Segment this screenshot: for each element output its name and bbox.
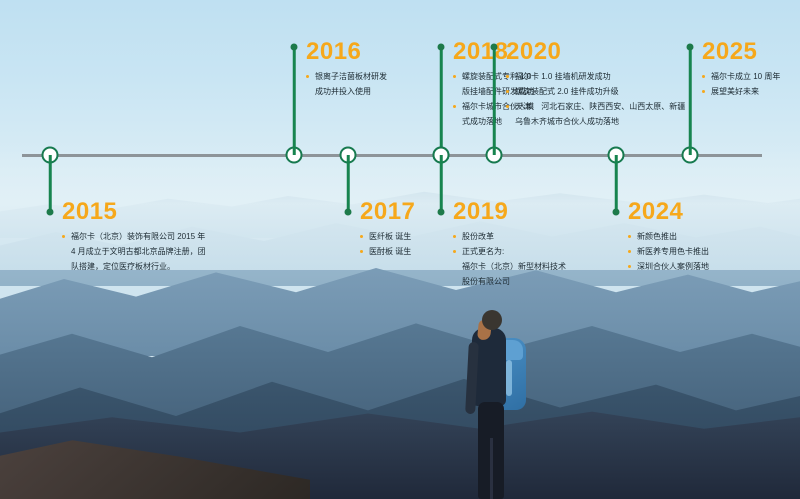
timeline-year-2015: 2015 <box>62 200 206 224</box>
timeline-bullets-2017: 医纤板 诞生医酎板 诞生 <box>360 231 415 258</box>
timeline-stem-2016 <box>293 47 296 155</box>
backpack-strap <box>506 360 512 396</box>
timeline-stem-cap-2015 <box>47 209 54 216</box>
timeline-stem-cap-2018 <box>438 44 445 51</box>
timeline-year-2017: 2017 <box>360 200 415 224</box>
timeline-entry-2019[interactable]: 2019股份改革正式更名为:福尔卡（北京）新型材料技术股份有限公司 <box>453 200 566 291</box>
timeline-bullet: 福尔卡（北京）装饰有限公司 2015 年 <box>62 231 206 243</box>
timeline-bullet: 深圳合伙人案例落地 <box>628 261 709 273</box>
timeline-bullet: 银离子洁菌板材研发 <box>306 71 387 83</box>
timeline-year-2025: 2025 <box>702 40 780 64</box>
timeline-bullets-2025: 福尔卡成立 10 周年展望美好未来 <box>702 71 780 98</box>
timeline-bullet: 螺旋装配式 2.0 挂件成功升级 <box>506 86 685 98</box>
timeline-year-2020: 2020 <box>506 40 685 64</box>
timeline-stem-2017 <box>347 155 350 212</box>
timeline-bullet: 新医养专用色卡推出 <box>628 246 709 258</box>
timeline-bullet: 乌鲁木齐城市合伙人成功落地 <box>506 116 685 128</box>
timeline-year-2024: 2024 <box>628 200 709 224</box>
timeline-year-2016: 2016 <box>306 40 387 64</box>
hiker-head <box>482 310 502 330</box>
timeline-stem-2025 <box>689 47 692 155</box>
timeline-bullets-2016: 银离子洁菌板材研发成功并投入使用 <box>306 71 387 98</box>
timeline-infographic: 2015福尔卡（北京）装饰有限公司 2015 年4 月成立于文明古都北京品牌注册… <box>0 0 800 499</box>
timeline-stem-cap-2024 <box>613 209 620 216</box>
timeline-bullet: 股份改革 <box>453 231 566 243</box>
timeline-entry-2025[interactable]: 2025福尔卡成立 10 周年展望美好未来 <box>702 40 780 101</box>
timeline-bullet: 医酎板 诞生 <box>360 246 415 258</box>
timeline-bullets-2020: 福尔卡 1.0 挂墙机研发成功螺旋装配式 2.0 挂件成功升级天津、 河北石家庄… <box>506 71 685 128</box>
timeline-stem-cap-2019 <box>438 209 445 216</box>
timeline-bullet: 新颜色推出 <box>628 231 709 243</box>
timeline-entry-2016[interactable]: 2016银离子洁菌板材研发成功并投入使用 <box>306 40 387 101</box>
timeline-stem-cap-2017 <box>345 209 352 216</box>
timeline-bullet: 天津、 河北石家庄、陕西西安、山西太原、新疆 <box>506 101 685 113</box>
timeline-stem-2018 <box>440 47 443 155</box>
timeline-bullet: 队搭建，定位医疗板材行业。 <box>62 261 206 273</box>
timeline-year-2019: 2019 <box>453 200 566 224</box>
timeline-bullets-2019: 股份改革正式更名为:福尔卡（北京）新型材料技术股份有限公司 <box>453 231 566 288</box>
timeline-stem-cap-2020 <box>491 44 498 51</box>
timeline-stem-2019 <box>440 155 443 212</box>
timeline-bullet: 成功并投入使用 <box>306 86 387 98</box>
timeline-bullets-2015: 福尔卡（北京）装饰有限公司 2015 年4 月成立于文明古都北京品牌注册，团队搭… <box>62 231 206 273</box>
timeline-bullet: 福尔卡成立 10 周年 <box>702 71 780 83</box>
timeline-stem-2015 <box>49 155 52 212</box>
timeline-bullet: 4 月成立于文明古都北京品牌注册，团 <box>62 246 206 258</box>
timeline-stem-cap-2016 <box>291 44 298 51</box>
timeline-entry-2020[interactable]: 2020福尔卡 1.0 挂墙机研发成功螺旋装配式 2.0 挂件成功升级天津、 河… <box>506 40 685 131</box>
hiker-leg-gap <box>490 438 493 499</box>
timeline-bullet: 股份有限公司 <box>453 276 566 288</box>
timeline-entry-2015[interactable]: 2015福尔卡（北京）装饰有限公司 2015 年4 月成立于文明古都北京品牌注册… <box>62 200 206 276</box>
timeline-bullet: 展望美好未来 <box>702 86 780 98</box>
timeline-stem-2020 <box>493 47 496 155</box>
timeline-bullet: 正式更名为: <box>453 246 566 258</box>
timeline-bullet: 福尔卡 1.0 挂墙机研发成功 <box>506 71 685 83</box>
timeline-stem-2024 <box>615 155 618 212</box>
timeline-stem-cap-2025 <box>687 44 694 51</box>
timeline-bullet: 医纤板 诞生 <box>360 231 415 243</box>
timeline-bullets-2024: 新颜色推出新医养专用色卡推出深圳合伙人案例落地 <box>628 231 709 273</box>
timeline-axis <box>22 154 762 157</box>
timeline-entry-2024[interactable]: 2024新颜色推出新医养专用色卡推出深圳合伙人案例落地 <box>628 200 709 276</box>
hiker-figure <box>448 310 538 499</box>
timeline-entry-2017[interactable]: 2017医纤板 诞生医酎板 诞生 <box>360 200 415 261</box>
timeline-bullet: 福尔卡（北京）新型材料技术 <box>453 261 566 273</box>
